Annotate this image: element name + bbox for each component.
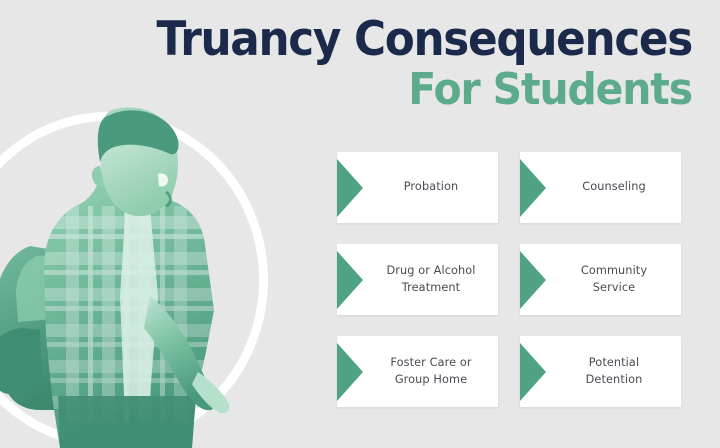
- chevron-right-icon: [337, 251, 363, 309]
- consequence-card-label-line1: Community: [581, 264, 647, 277]
- consequence-card-label-line1: Drug or Alcohol: [386, 264, 475, 277]
- chevron-right-icon: [520, 343, 546, 401]
- consequence-card-drug-or-alcohol-treatment[interactable]: Drug or AlcoholTreatment: [337, 244, 498, 315]
- consequence-card-label-line1: Potential: [589, 356, 639, 369]
- consequence-card-potential-detention[interactable]: PotentialDetention: [520, 336, 681, 407]
- student-photo: [0, 96, 262, 448]
- artwork-area: [0, 96, 300, 448]
- chevron-right-icon: [337, 343, 363, 401]
- chevron-right-icon: [520, 251, 546, 309]
- consequence-card-foster-care-or-group-home[interactable]: Foster Care orGroup Home: [337, 336, 498, 407]
- consequence-card-label: Counseling: [560, 179, 668, 195]
- infographic-poster: Truancy Consequences For Students Probat…: [0, 0, 720, 448]
- consequence-card-label-line2: Detention: [586, 373, 643, 386]
- consequence-card-label: Drug or AlcoholTreatment: [377, 263, 485, 295]
- student-photo-illustration: [0, 96, 262, 448]
- consequence-card-label: PotentialDetention: [560, 355, 668, 387]
- consequence-card-label: Foster Care orGroup Home: [377, 355, 485, 387]
- consequence-card-probation[interactable]: Probation: [337, 152, 498, 223]
- chevron-right-icon: [520, 159, 546, 217]
- consequence-card-counseling[interactable]: Counseling: [520, 152, 681, 223]
- consequence-cards-grid: Probation Counseling Drug or AlcoholTrea…: [337, 152, 681, 407]
- headline-subtitle: For Students: [48, 67, 692, 113]
- consequence-card-label: CommunityService: [560, 263, 668, 295]
- headline: Truancy Consequences For Students: [0, 16, 692, 113]
- consequence-card-label-line1: Foster Care or: [390, 356, 471, 369]
- headline-main: Truancy Consequences: [48, 16, 692, 65]
- consequence-card-label-line2: Group Home: [395, 373, 467, 386]
- consequence-card-label: Probation: [377, 179, 485, 195]
- consequence-card-label-line2: Service: [593, 281, 635, 294]
- chevron-right-icon: [337, 159, 363, 217]
- consequence-card-community-service[interactable]: CommunityService: [520, 244, 681, 315]
- consequence-card-label-line2: Treatment: [402, 281, 460, 294]
